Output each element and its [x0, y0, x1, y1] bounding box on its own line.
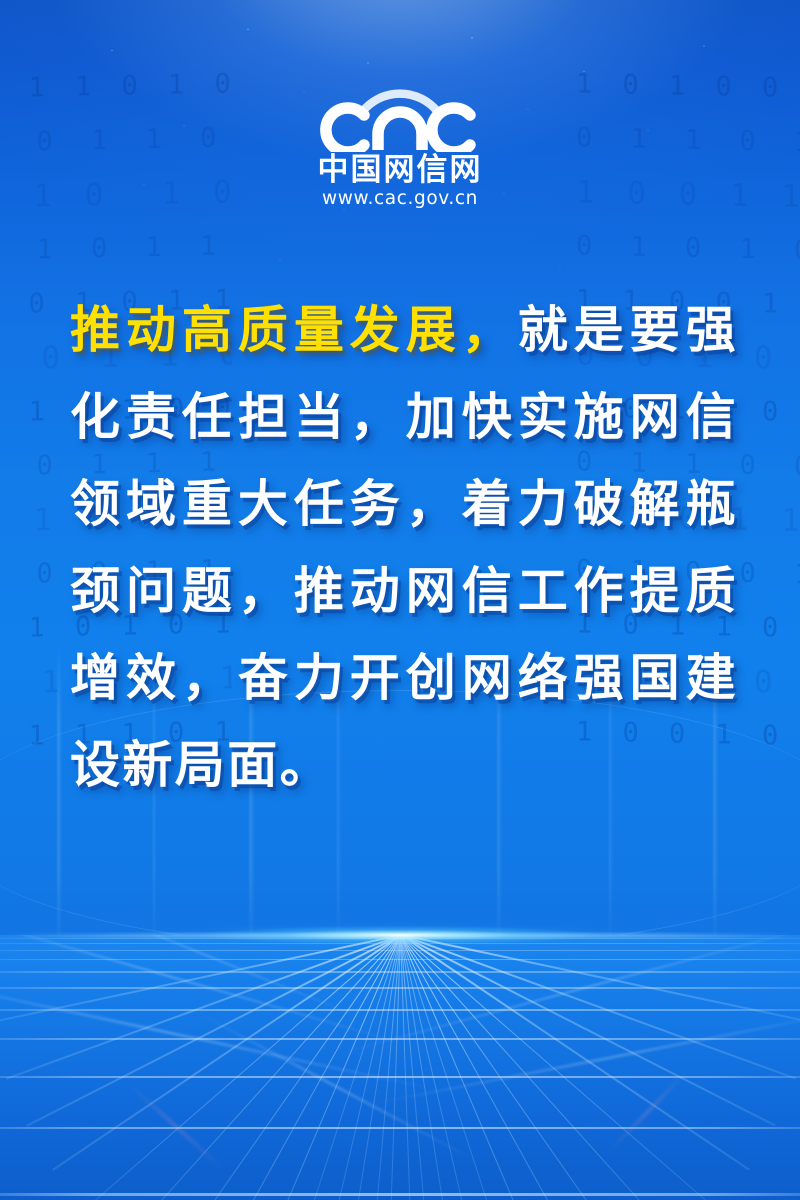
arc-lower [0, 840, 800, 950]
headline-highlight: 推动高质量发展， [70, 300, 518, 359]
floor-horizontal-line [0, 1193, 800, 1196]
poster-canvas: 0 1 1 0 1 0 0 11 0 1 1 0 1 1 01 1 0 1 00… [0, 0, 800, 1200]
cac-logo-mark-icon [316, 86, 484, 152]
headline-quote: 推动高质量发展，就是要强化责任担当，加快实施网信领域重大任务，着力破解瓶颈问题，… [70, 286, 738, 808]
floor-horizontal-line [0, 1009, 800, 1011]
logo-organization-name: 中国网信网 [318, 154, 483, 187]
perspective-grid-floor [0, 935, 800, 1200]
floor-horizontal-line [0, 971, 800, 973]
floor-converging-lines [0, 935, 800, 1200]
floor-horizontal-line [0, 1127, 800, 1129]
floor-horizontal-line [0, 938, 800, 939]
floor-horizontal-line [0, 950, 800, 951]
cac-logo: 中国网信网 www.cac.gov.cn [0, 86, 800, 209]
floor-ray [6, 935, 401, 1079]
headline-body: 就是要强化责任担当，加快实施网信领域重大任务，着力破解瓶颈问题，推动网信工作提质… [70, 300, 738, 794]
floor-horizontal-line [0, 943, 800, 944]
floor-horizontal-line [0, 987, 800, 989]
logo-website-url: www.cac.gov.cn [322, 188, 478, 209]
